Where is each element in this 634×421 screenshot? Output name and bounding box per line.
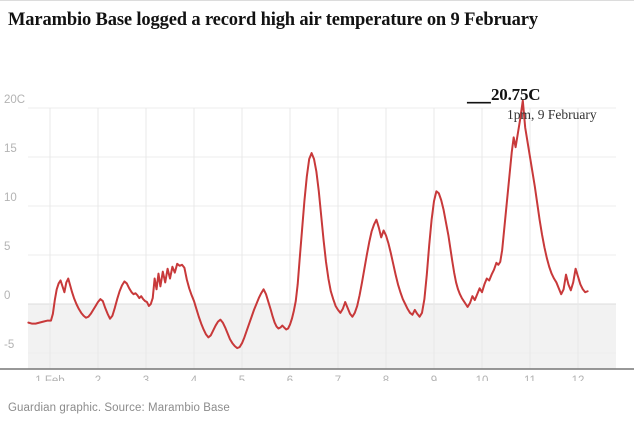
x-tick-label: 10 (476, 375, 489, 381)
x-axis-tick-labels: 1 Feb23456789101112 (35, 375, 584, 381)
x-tick-label: 1 Feb (35, 375, 64, 381)
x-tick-label: 3 (143, 375, 149, 381)
chart-plot-area: -505101520C 1 Feb23456789101112 (0, 81, 634, 381)
negative-shaded-band (28, 304, 616, 369)
y-tick-label: 10 (4, 192, 17, 204)
y-tick-label: 5 (4, 241, 10, 253)
temperature-line-chart: -505101520C 1 Feb23456789101112 (0, 81, 634, 381)
x-tick-label: 8 (383, 375, 389, 381)
y-tick-label: 20C (4, 94, 25, 106)
x-tick-label: 11 (524, 375, 536, 381)
y-tick-label: 0 (4, 290, 10, 302)
x-tick-label: 7 (335, 375, 341, 381)
x-tick-label: 6 (287, 375, 293, 381)
x-tick-label: 9 (431, 375, 437, 381)
chart-figure: Marambio Base logged a record high air t… (0, 0, 634, 421)
source-credit: Guardian graphic. Source: Marambio Base (8, 402, 230, 414)
x-tick-label: 2 (95, 375, 101, 381)
x-tick-label: 12 (572, 375, 585, 381)
y-tick-label: -5 (4, 339, 14, 351)
x-tick-label: 4 (191, 375, 198, 381)
page-title: Marambio Base logged a record high air t… (8, 9, 568, 32)
y-tick-label: 15 (4, 143, 17, 155)
y-axis-tick-labels: -505101520C (4, 94, 25, 351)
x-tick-label: 5 (239, 375, 245, 381)
